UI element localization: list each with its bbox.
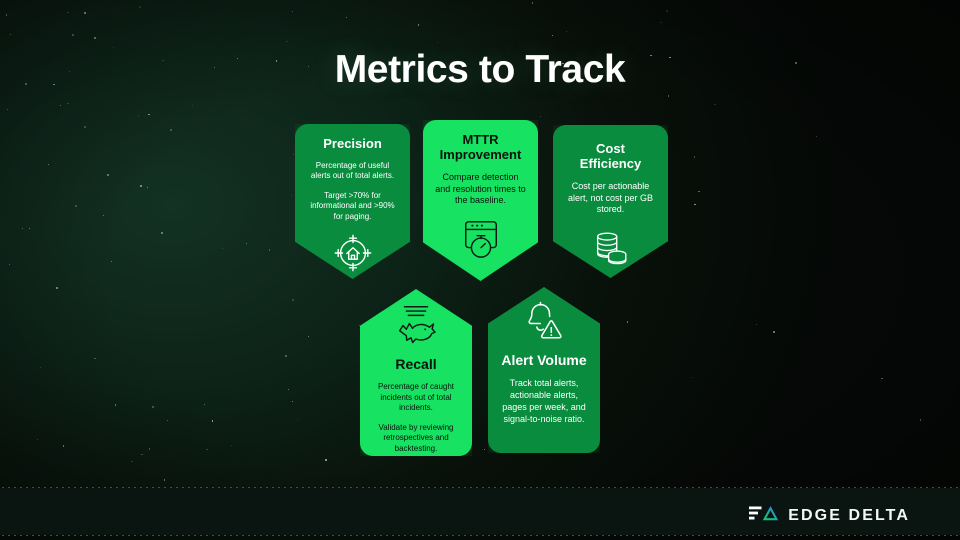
brand-name: EDGE DELTA [788,507,910,525]
card-title: Cost Efficiency [564,142,657,172]
card-title: Recall [395,357,436,373]
footer-divider-bottom [0,535,960,536]
card-body-text-1: Track total alerts, actionable alerts, p… [499,378,589,426]
card-body-text-1: Cost per actionable alert, not cost per … [564,181,657,217]
card-body-text-1: Percentage of caught incidents out of to… [371,382,461,414]
edge-delta-logo-icon [749,503,779,529]
card-body-text-2: Target >70% for informational and >90% f… [306,191,399,223]
fish-icon [391,301,441,349]
card-body-text-1: Percentage of useful alerts out of total… [306,161,399,182]
page-title: Metrics to Track [0,48,960,92]
footer-divider-top [0,487,960,488]
card-body-text-2: Validate by reviewing retrospectives and… [371,423,461,455]
target-house-icon [332,232,374,274]
card-title: Alert Volume [501,353,586,369]
card-title: Precision [323,137,382,152]
card-body-text-1: Compare detection and resolution times t… [434,172,527,208]
stacked-coins-icon [589,228,633,270]
card-title: MTTR Improvement [435,133,527,163]
bell-warning-icon [520,300,568,346]
browser-stopwatch-icon [459,218,503,260]
brand-logo: EDGE DELTA [749,503,910,529]
